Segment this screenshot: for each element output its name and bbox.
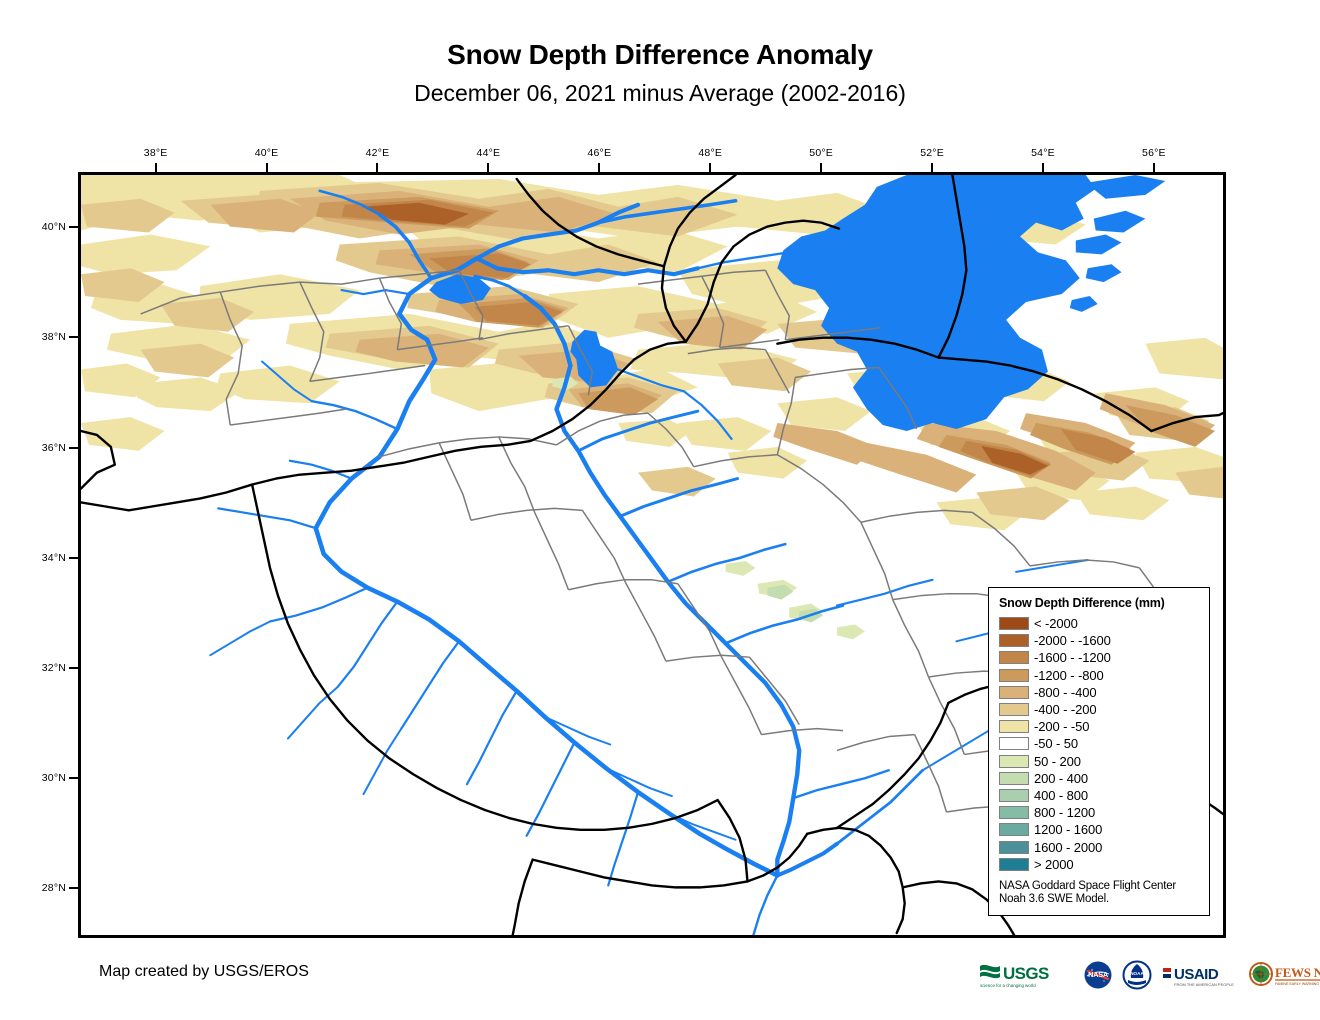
- svg-text:USGS: USGS: [1003, 964, 1049, 983]
- legend-row[interactable]: -50 - 50: [999, 735, 1200, 752]
- legend-row[interactable]: 50 - 200: [999, 753, 1200, 770]
- y-axis-label: 38°N: [22, 331, 66, 343]
- legend-swatch: [999, 789, 1029, 802]
- legend-label: -1600 - -1200: [1034, 651, 1111, 664]
- legend-row[interactable]: -800 - -400: [999, 684, 1200, 701]
- svg-text:FAMINE EARLY WARNING SYSTEMS N: FAMINE EARLY WARNING SYSTEMS NETWORK: [1275, 982, 1320, 986]
- y-axis-tick: [69, 777, 78, 779]
- y-axis-tick: [69, 336, 78, 338]
- x-axis-label: 52°E: [920, 147, 944, 159]
- legend-swatch: [999, 651, 1029, 664]
- legend-rows: < -2000-2000 - -1600-1600 - -1200-1200 -…: [999, 615, 1200, 873]
- y-axis-label: 28°N: [22, 882, 66, 894]
- legend-label: > 2000: [1034, 858, 1074, 871]
- svg-text:NASA: NASA: [1088, 970, 1109, 979]
- legend-swatch: [999, 669, 1029, 682]
- legend-label: -200 - -50: [1034, 720, 1089, 733]
- legend-label: -50 - 50: [1034, 737, 1078, 750]
- legend-label: -400 - -200: [1034, 703, 1097, 716]
- x-axis-label: 40°E: [255, 147, 279, 159]
- x-axis-label: 42°E: [366, 147, 390, 159]
- legend-label: -800 - -400: [1034, 686, 1097, 699]
- x-axis-tick: [1153, 163, 1155, 172]
- legend-swatch: [999, 617, 1029, 630]
- usgs-logo[interactable]: USGS science for a changing world: [978, 960, 1074, 990]
- fewsnet-logo[interactable]: FEWS NET FAMINE EARLY WARNING SYSTEMS NE…: [1248, 960, 1320, 990]
- x-axis-tick: [266, 163, 268, 172]
- x-axis-tick: [376, 163, 378, 172]
- legend-row[interactable]: 800 - 1200: [999, 804, 1200, 821]
- legend-swatch: [999, 686, 1029, 699]
- map-legend[interactable]: Snow Depth Difference (mm) < -2000-2000 …: [988, 587, 1210, 916]
- page-title: Snow Depth Difference Anomaly: [0, 38, 1320, 72]
- legend-label: 800 - 1200: [1034, 806, 1095, 819]
- x-axis-tick: [598, 163, 600, 172]
- y-axis-tick: [69, 557, 78, 559]
- x-axis-label: 56°E: [1142, 147, 1166, 159]
- page-subtitle: December 06, 2021 minus Average (2002-20…: [0, 78, 1320, 108]
- legend-note-line-2: Noah 3.6 SWE Model.: [999, 893, 1200, 907]
- y-axis-label: 34°N: [22, 552, 66, 564]
- y-axis-tick: [69, 226, 78, 228]
- svg-text:science for a changing world: science for a changing world: [980, 983, 1036, 988]
- svg-text:NOAA: NOAA: [1130, 971, 1144, 976]
- y-axis-tick: [69, 667, 78, 669]
- x-axis-label: 38°E: [144, 147, 168, 159]
- usaid-logo[interactable]: USAID FROM THE AMERICAN PEOPLE: [1161, 960, 1239, 990]
- legend-swatch: [999, 737, 1029, 750]
- x-axis-label: 54°E: [1031, 147, 1055, 159]
- logo-bar: USGS science for a changing world NASA N…: [978, 958, 1320, 992]
- legend-row[interactable]: 200 - 400: [999, 770, 1200, 787]
- x-axis-label: 46°E: [587, 147, 611, 159]
- svg-text:FROM THE AMERICAN PEOPLE: FROM THE AMERICAN PEOPLE: [1174, 982, 1234, 987]
- legend-swatch: [999, 634, 1029, 647]
- svg-text:USAID: USAID: [1174, 966, 1219, 983]
- x-axis-tick: [820, 163, 822, 172]
- y-axis-label: 30°N: [22, 772, 66, 784]
- x-axis-tick: [487, 163, 489, 172]
- legend-row[interactable]: -2000 - -1600: [999, 632, 1200, 649]
- nasa-logo[interactable]: NASA: [1083, 960, 1113, 990]
- legend-swatch: [999, 772, 1029, 785]
- map-credit: Map created by USGS/EROS: [99, 963, 309, 981]
- legend-row[interactable]: -400 - -200: [999, 701, 1200, 718]
- x-axis-tick: [155, 163, 157, 172]
- x-axis-tick: [1042, 163, 1044, 172]
- legend-row[interactable]: -200 - -50: [999, 718, 1200, 735]
- legend-swatch: [999, 755, 1029, 768]
- legend-swatch: [999, 703, 1029, 716]
- legend-note: NASA Goddard Space Flight Center Noah 3.…: [999, 880, 1200, 907]
- y-axis-label: 40°N: [22, 221, 66, 233]
- legend-swatch: [999, 823, 1029, 836]
- title-block: Snow Depth Difference Anomaly December 0…: [0, 38, 1320, 108]
- x-axis-label: 48°E: [698, 147, 722, 159]
- y-axis-label: 32°N: [22, 662, 66, 674]
- x-axis-label: 50°E: [809, 147, 833, 159]
- legend-swatch: [999, 720, 1029, 733]
- x-axis-tick: [709, 163, 711, 172]
- legend-swatch: [999, 806, 1029, 819]
- legend-label: -1200 - -800: [1034, 669, 1104, 682]
- legend-swatch: [999, 858, 1029, 871]
- noaa-logo[interactable]: NOAA: [1122, 960, 1152, 990]
- legend-label: -2000 - -1600: [1034, 634, 1111, 647]
- legend-label: 1200 - 1600: [1034, 823, 1102, 836]
- x-axis-tick: [931, 163, 933, 172]
- legend-row[interactable]: -1600 - -1200: [999, 649, 1200, 666]
- legend-title: Snow Depth Difference (mm): [999, 596, 1200, 610]
- legend-row[interactable]: < -2000: [999, 615, 1200, 632]
- svg-text:FEWS NET: FEWS NET: [1275, 965, 1320, 980]
- y-axis-label: 36°N: [22, 442, 66, 454]
- y-axis-tick: [69, 887, 78, 889]
- legend-note-line-1: NASA Goddard Space Flight Center: [999, 880, 1200, 894]
- legend-label: 200 - 400: [1034, 772, 1088, 785]
- x-axis-label: 44°E: [477, 147, 501, 159]
- legend-swatch: [999, 841, 1029, 854]
- legend-row[interactable]: -1200 - -800: [999, 667, 1200, 684]
- legend-row[interactable]: 1600 - 2000: [999, 838, 1200, 855]
- legend-label: 400 - 800: [1034, 789, 1088, 802]
- legend-row[interactable]: 1200 - 1600: [999, 821, 1200, 838]
- y-axis-tick: [69, 447, 78, 449]
- legend-row[interactable]: 400 - 800: [999, 787, 1200, 804]
- legend-row[interactable]: > 2000: [999, 856, 1200, 873]
- legend-label: 50 - 200: [1034, 755, 1081, 768]
- legend-label: < -2000: [1034, 617, 1078, 630]
- legend-label: 1600 - 2000: [1034, 841, 1102, 854]
